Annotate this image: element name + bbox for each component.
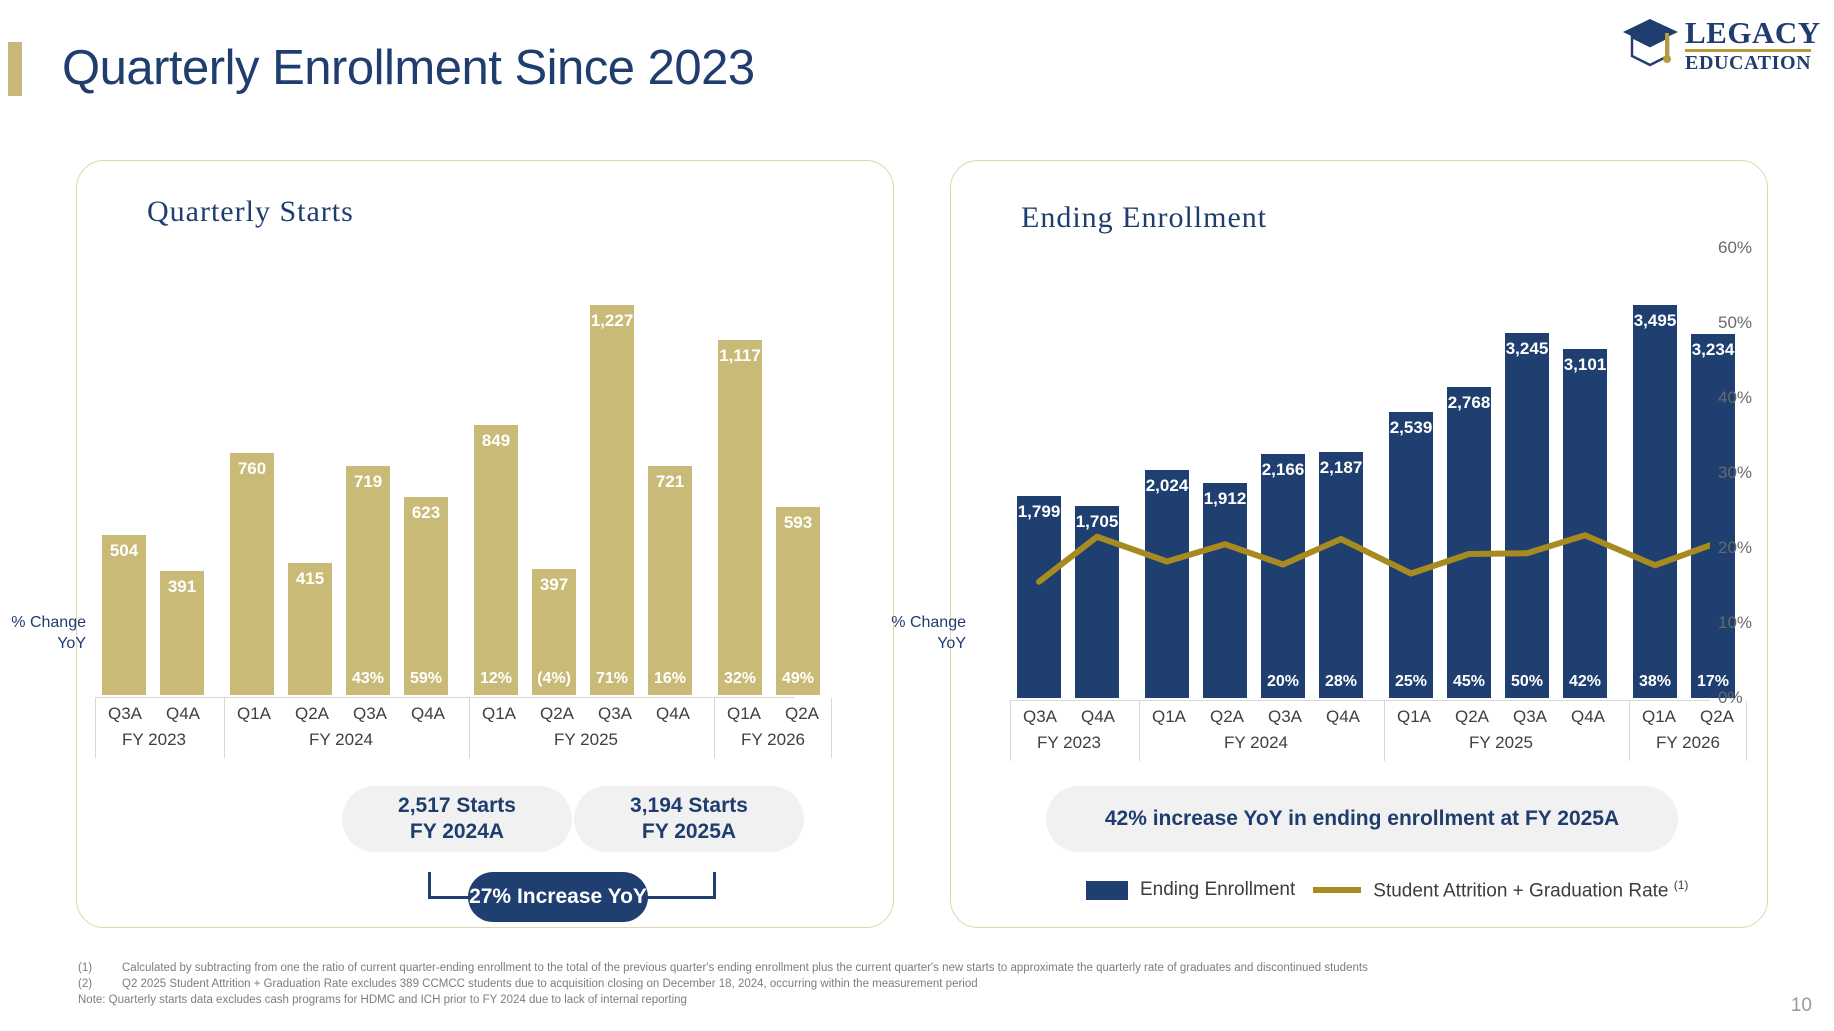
bar-pct-change-label: 38% bbox=[1639, 673, 1671, 691]
bar: 3,49538% bbox=[1633, 305, 1677, 698]
ending-enrollment-title: Ending Enrollment bbox=[1021, 201, 1267, 235]
fiscal-year-tick-label: FY 2023 bbox=[96, 728, 212, 758]
bar-value-label: 849 bbox=[482, 431, 510, 451]
bar: 3,10142% bbox=[1563, 349, 1607, 698]
bar-pct-change-label: 32% bbox=[724, 670, 756, 688]
bar-pct-change-label: 12% bbox=[480, 670, 512, 688]
secondary-y-tick-label: 0% bbox=[1718, 688, 1743, 708]
bar-value-label: 2,187 bbox=[1320, 458, 1363, 478]
bar-value-label: 593 bbox=[784, 513, 812, 533]
bar: 397(4%) bbox=[532, 569, 576, 695]
bar-value-label: 2,768 bbox=[1448, 393, 1491, 413]
quarter-tick-label: Q2A bbox=[773, 698, 831, 728]
bar: 2,18728% bbox=[1319, 452, 1363, 698]
quarter-tick-label: Q1A bbox=[470, 698, 528, 728]
secondary-y-tick-label: 40% bbox=[1718, 388, 1752, 408]
bar-pct-change-label: (4%) bbox=[537, 670, 571, 688]
bar-value-label: 397 bbox=[540, 575, 568, 595]
secondary-y-tick-label: 50% bbox=[1718, 313, 1752, 333]
quarter-tick-label: Q3A bbox=[1501, 701, 1559, 731]
ending-enrollment-chart: 1,7991,7052,0241,9122,16620%2,18728%2,53… bbox=[1010, 248, 1710, 698]
bar-value-label: 1,705 bbox=[1076, 512, 1119, 532]
bar-pct-change-label: 16% bbox=[654, 670, 686, 688]
quarter-tick-label: Q1A bbox=[1630, 701, 1688, 731]
legend-label: Ending Enrollment bbox=[1140, 879, 1295, 901]
bar: 84912% bbox=[474, 425, 518, 695]
bar: 62359% bbox=[404, 497, 448, 695]
bar: 71943% bbox=[346, 466, 390, 695]
bar: 504 bbox=[102, 535, 146, 695]
logo-legacy-text: LEGACY bbox=[1685, 18, 1821, 48]
bar: 1,11732% bbox=[718, 340, 762, 695]
footnote-1: (1) Calculated by subtracting from one t… bbox=[78, 960, 1718, 976]
bar-value-label: 760 bbox=[238, 459, 266, 479]
bar-value-label: 1,799 bbox=[1018, 502, 1061, 522]
legend-box-swatch-icon bbox=[1086, 881, 1128, 900]
graduation-cap-icon bbox=[1622, 16, 1680, 68]
bar-value-label: 3,495 bbox=[1634, 311, 1677, 331]
bar: 3,24550% bbox=[1505, 333, 1549, 698]
bar-pct-change-label: 71% bbox=[596, 670, 628, 688]
bar: 59349% bbox=[776, 507, 820, 695]
bar: 2,76845% bbox=[1447, 387, 1491, 698]
bar: 2,16620% bbox=[1261, 454, 1305, 698]
right-pct-change-axis-label: % Change YoY bbox=[880, 612, 966, 654]
bar-pct-change-label: 25% bbox=[1395, 673, 1427, 691]
bar-value-label: 3,234 bbox=[1692, 340, 1735, 360]
quarter-tick-label: Q4A bbox=[644, 698, 702, 728]
fiscal-year-tick-label: FY 2026 bbox=[715, 728, 831, 758]
quarter-tick-label: Q3A bbox=[1011, 701, 1069, 731]
bar: 1,22771% bbox=[590, 305, 634, 695]
bar-pct-change-label: 43% bbox=[352, 670, 384, 688]
bar-value-label: 3,101 bbox=[1564, 355, 1607, 375]
quarter-tick-label: Q1A bbox=[225, 698, 283, 728]
yoy-increase-badge: 27% Increase YoY bbox=[468, 872, 648, 922]
bar-value-label: 391 bbox=[168, 577, 196, 597]
bar-pct-change-label: 59% bbox=[410, 670, 442, 688]
quarterly-starts-title: Quarterly Starts bbox=[147, 195, 354, 229]
bar-value-label: 2,024 bbox=[1146, 476, 1189, 496]
bar-value-label: 2,539 bbox=[1390, 418, 1433, 438]
fiscal-year-tick-label: FY 2025 bbox=[1385, 731, 1617, 761]
quarter-tick-label: Q2A bbox=[1443, 701, 1501, 731]
bar-value-label: 721 bbox=[656, 472, 684, 492]
fiscal-year-tick-label: FY 2025 bbox=[470, 728, 702, 758]
legend-line-swatch-icon bbox=[1313, 887, 1361, 893]
ending-enrollment-x-axis: Q3AQ4AFY 2023Q1AQ2AQ3AQ4AFY 2024Q1AQ2AQ3… bbox=[1010, 700, 1710, 761]
bar: 760 bbox=[230, 453, 274, 695]
bar: 415 bbox=[288, 563, 332, 695]
bar-value-label: 1,912 bbox=[1204, 489, 1247, 509]
quarterly-starts-x-axis: Q3AQ4AFY 2023Q1AQ2AQ3AQ4AFY 2024Q1AQ2AQ3… bbox=[95, 697, 795, 758]
quarter-tick-label: Q4A bbox=[154, 698, 212, 728]
legend-ending-enrollment[interactable]: Ending Enrollment bbox=[1086, 879, 1295, 901]
bar-value-label: 504 bbox=[110, 541, 138, 561]
footnote-2: (2) Q2 2025 Student Attrition + Graduati… bbox=[78, 976, 1718, 992]
bar-pct-change-label: 28% bbox=[1325, 673, 1357, 691]
bar: 1,705 bbox=[1075, 506, 1119, 698]
bar: 391 bbox=[160, 571, 204, 695]
page-title: Quarterly Enrollment Since 2023 bbox=[62, 40, 755, 96]
legend-attrition-rate[interactable]: Student Attrition + Graduation Rate (1) bbox=[1313, 878, 1688, 902]
bar-value-label: 2,166 bbox=[1262, 460, 1305, 480]
quarter-tick-label: Q3A bbox=[586, 698, 644, 728]
quarter-tick-label: Q2A bbox=[283, 698, 341, 728]
secondary-y-tick-label: 30% bbox=[1718, 463, 1752, 483]
bar-pct-change-label: 50% bbox=[1511, 673, 1543, 691]
secondary-y-tick-label: 60% bbox=[1718, 238, 1752, 258]
fiscal-year-tick-label: FY 2026 bbox=[1630, 731, 1746, 761]
ending-enrollment-callout-pill: 42% increase YoY in ending enrollment at… bbox=[1046, 786, 1678, 852]
quarter-tick-label: Q4A bbox=[1314, 701, 1372, 731]
logo-education-text: EDUCATION bbox=[1685, 53, 1821, 73]
quarter-tick-label: Q2A bbox=[1198, 701, 1256, 731]
bar-pct-change-label: 42% bbox=[1569, 673, 1601, 691]
bar: 1,912 bbox=[1203, 483, 1247, 698]
bar: 1,799 bbox=[1017, 496, 1061, 698]
bar-value-label: 3,245 bbox=[1506, 339, 1549, 359]
bar-value-label: 1,227 bbox=[591, 311, 634, 331]
bar-value-label: 719 bbox=[354, 472, 382, 492]
quarterly-starts-chart: 50439176041571943%62359%84912%397(4%)1,2… bbox=[95, 250, 795, 695]
footnote-note: Note: Quarterly starts data excludes cas… bbox=[78, 992, 1718, 1008]
title-accent-bar bbox=[8, 42, 22, 96]
bar: 2,024 bbox=[1145, 470, 1189, 698]
quarter-tick-label: Q3A bbox=[341, 698, 399, 728]
ending-enrollment-legend: Ending EnrollmentStudent Attrition + Gra… bbox=[1086, 878, 1688, 902]
bar-value-label: 1,117 bbox=[719, 346, 761, 366]
bar-pct-change-label: 45% bbox=[1453, 673, 1485, 691]
legend-label: Student Attrition + Graduation Rate (1) bbox=[1373, 878, 1688, 902]
left-pct-change-axis-label: % Change YoY bbox=[0, 612, 86, 654]
fy2024-starts-pill: 2,517 Starts FY 2024A bbox=[342, 786, 572, 852]
quarter-tick-label: Q3A bbox=[96, 698, 154, 728]
bar-pct-change-label: 49% bbox=[782, 670, 814, 688]
fiscal-year-tick-label: FY 2024 bbox=[225, 728, 457, 758]
quarter-tick-label: Q4A bbox=[1069, 701, 1127, 731]
quarter-tick-label: Q4A bbox=[1559, 701, 1617, 731]
quarter-tick-label: Q4A bbox=[399, 698, 457, 728]
legacy-education-logo: LEGACY EDUCATION bbox=[1622, 16, 1812, 74]
bar-value-label: 623 bbox=[412, 503, 440, 523]
bar: 2,53925% bbox=[1389, 412, 1433, 698]
quarter-tick-label: Q2A bbox=[528, 698, 586, 728]
bar-pct-change-label: 20% bbox=[1267, 673, 1299, 691]
slide: Quarterly Enrollment Since 2023 LEGACY E… bbox=[0, 0, 1834, 1031]
fiscal-year-tick-label: FY 2024 bbox=[1140, 731, 1372, 761]
secondary-y-tick-label: 10% bbox=[1718, 613, 1752, 633]
quarter-tick-label: Q1A bbox=[715, 698, 773, 728]
quarter-tick-label: Q1A bbox=[1140, 701, 1198, 731]
footnotes: (1) Calculated by subtracting from one t… bbox=[78, 960, 1718, 1008]
page-number: 10 bbox=[1791, 995, 1812, 1017]
bar-value-label: 415 bbox=[296, 569, 324, 589]
bar: 72116% bbox=[648, 466, 692, 695]
quarter-tick-label: Q3A bbox=[1256, 701, 1314, 731]
secondary-y-tick-label: 20% bbox=[1718, 538, 1752, 558]
quarter-tick-label: Q1A bbox=[1385, 701, 1443, 731]
fy2025-starts-pill: 3,194 Starts FY 2025A bbox=[574, 786, 804, 852]
fiscal-year-tick-label: FY 2023 bbox=[1011, 731, 1127, 761]
